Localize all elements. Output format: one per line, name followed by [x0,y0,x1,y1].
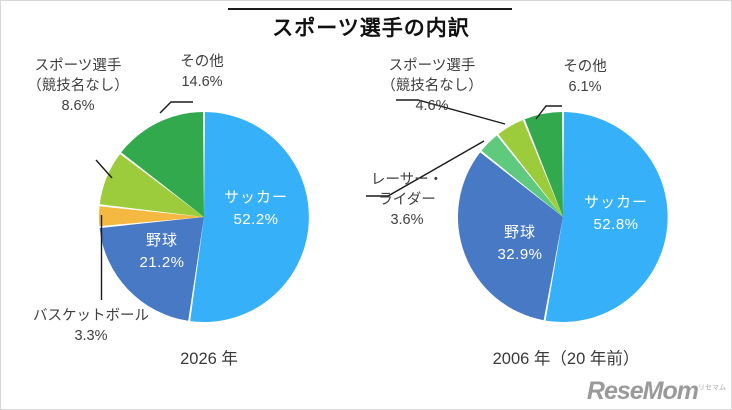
label-athlete-unnamed-pct: 4.6% [352,96,512,116]
slice-label-soccer-name: サッカー [224,189,288,206]
pie-chart-2006: スポーツ選手 （競技名なし） 4.6% その他 6.1% レーサー・ ライダー … [366,0,732,410]
slice-label-baseball: 野球 21.2% [112,230,212,274]
label-other: その他 14.6% [152,52,252,92]
label-athlete-unnamed-line1: スポーツ選手 [35,58,122,74]
label-athlete-unnamed-line1: スポーツ選手 [389,58,476,74]
label-athlete-unnamed-line2: （競技名なし） [8,76,148,96]
slice-label-soccer: サッカー 52.8% [556,192,676,236]
label-athlete-unnamed: スポーツ選手 （競技名なし） 8.6% [8,56,148,116]
label-basketball: バスケットボール 3.3% [6,306,176,346]
label-racer-line1: レーサー・ [371,172,443,188]
label-racer-line2: ライダー [332,190,482,210]
label-other-name: その他 [563,59,607,75]
leader-line-other [160,102,193,113]
label-other-name: その他 [180,54,224,70]
watermark-ruby: リセマム [698,385,726,392]
pie-2026-caption: 2026 年 [124,345,294,369]
slice-label-soccer-pct: 52.2% [196,209,316,231]
watermark-text: ReseMom [587,377,698,405]
leader-line-athlete [96,160,112,178]
resemom-watermark: ReseMomリセマム [587,377,726,406]
label-basketball-name: バスケットボール [33,308,149,324]
label-athlete-unnamed: スポーツ選手 （競技名なし） 4.6% [352,56,512,116]
slice-label-soccer: サッカー 52.2% [196,187,316,231]
chart-figure: スポーツ選手の内訳 スポーツ選手 （競技名なし） 8.6% その他 14.6% [0,0,732,410]
slice-label-baseball-pct: 21.2% [112,252,212,274]
slice-label-soccer-name: サッカー [584,194,648,211]
label-other: その他 6.1% [530,57,640,97]
label-racer-pct: 3.6% [332,210,482,230]
pie-chart-2026: スポーツ選手 （競技名なし） 8.6% その他 14.6% バスケットボール 3… [0,0,366,410]
slice-label-baseball-name: 野球 [504,224,536,241]
slice-label-soccer-pct: 52.8% [556,214,676,236]
pie-2006-caption: 2006 年（20 年前） [451,345,681,369]
label-athlete-unnamed-line2: （競技名なし） [352,76,512,96]
label-other-pct: 6.1% [530,77,640,97]
slice-label-baseball-pct: 32.9% [470,244,570,266]
label-basketball-pct: 3.3% [6,326,176,346]
label-other-pct: 14.6% [152,72,252,92]
slice-label-baseball: 野球 32.9% [470,222,570,266]
slice-label-baseball-name: 野球 [146,232,178,249]
label-racer: レーサー・ ライダー 3.6% [332,170,482,230]
label-athlete-unnamed-pct: 8.6% [8,96,148,116]
